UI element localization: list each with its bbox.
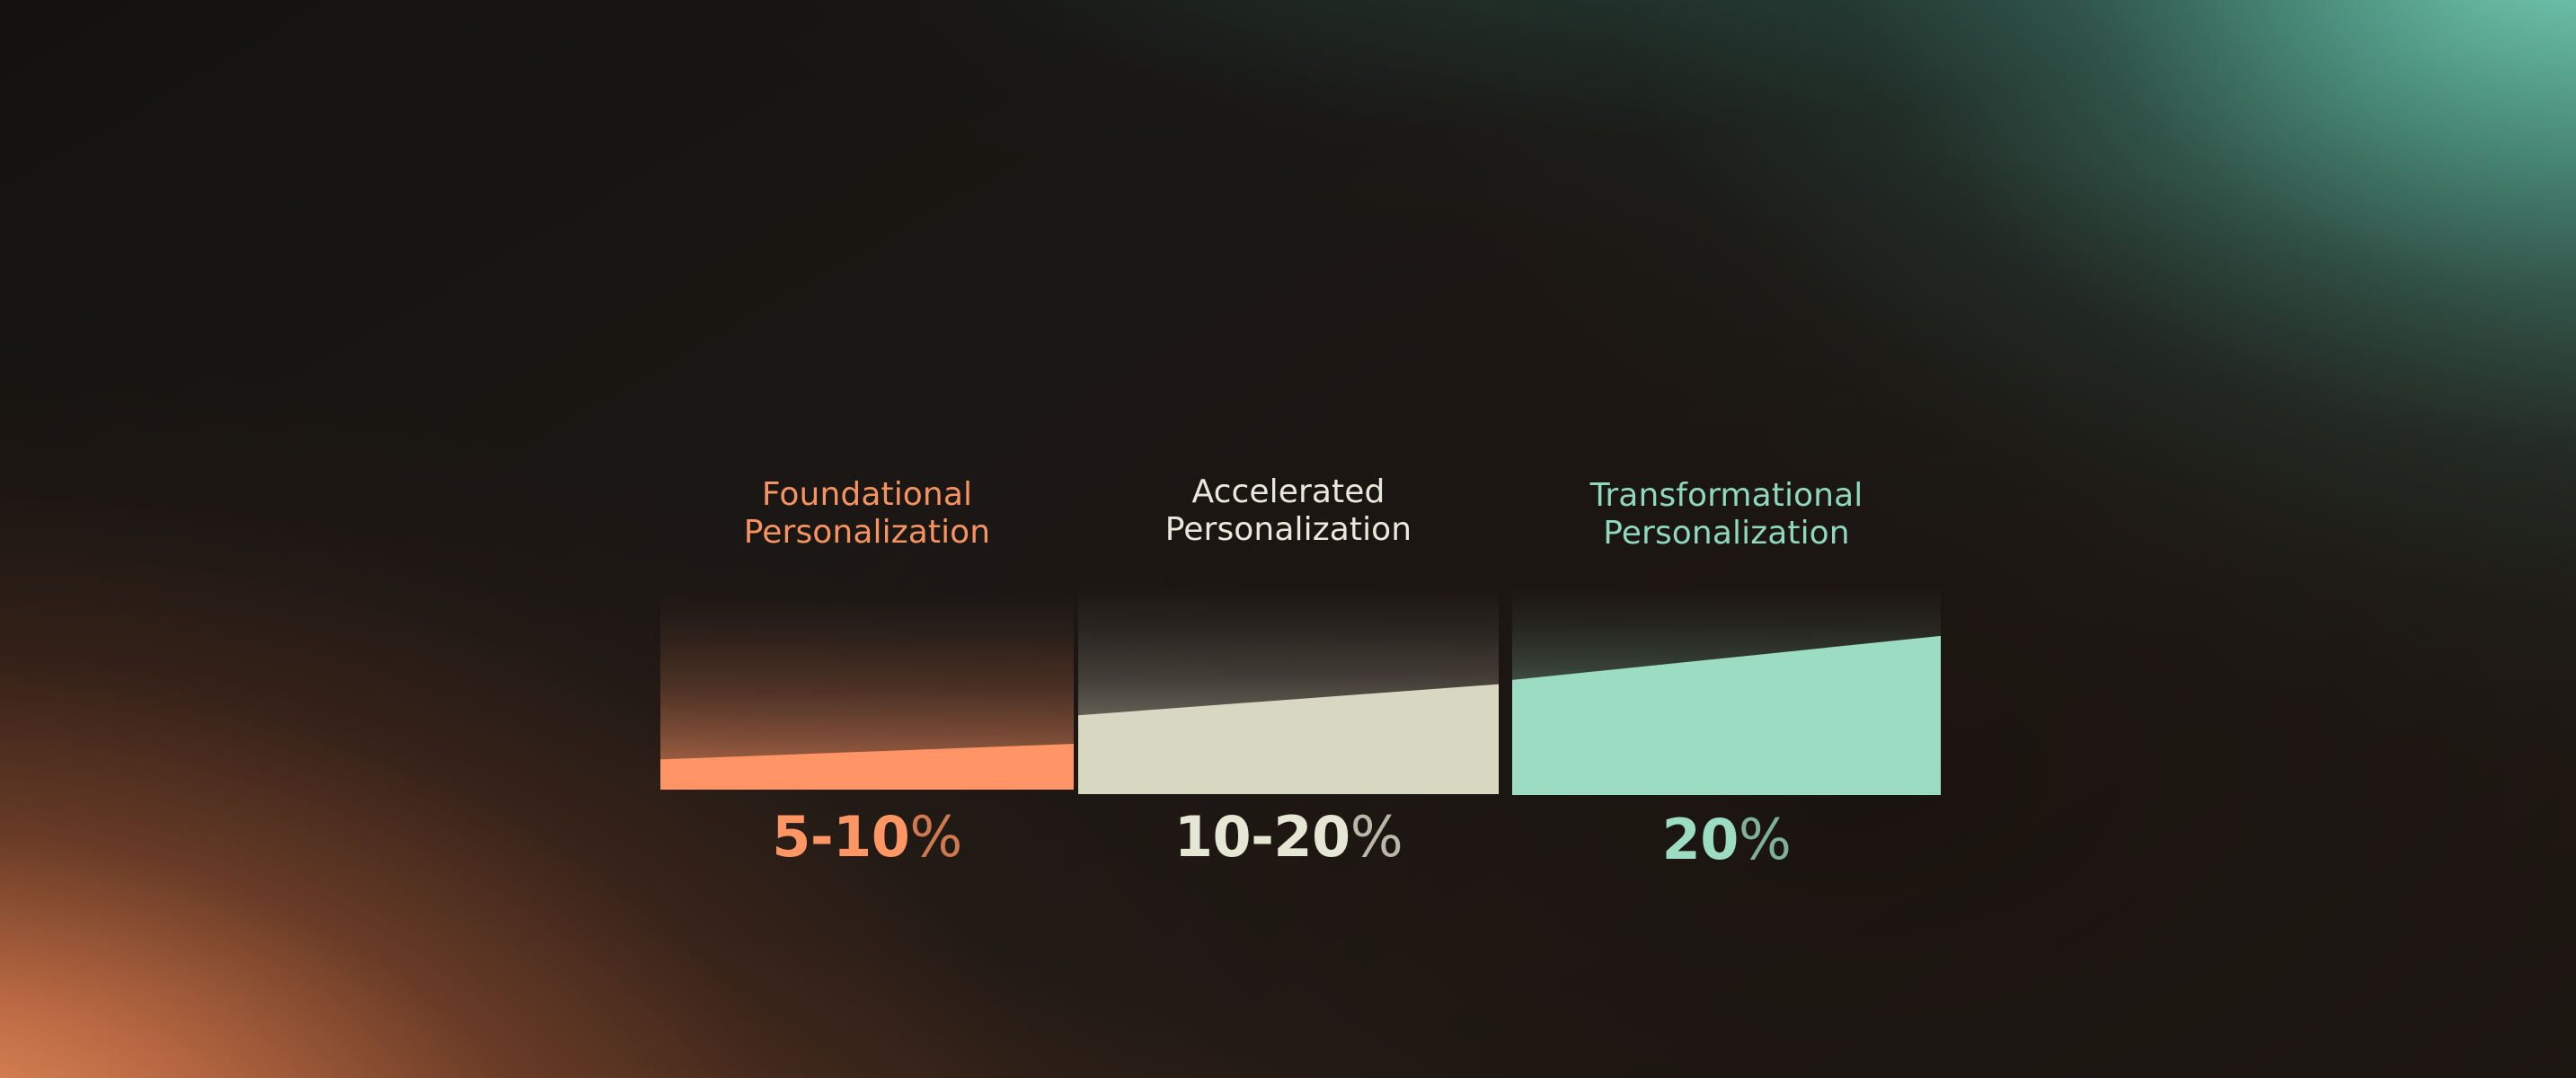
value-number-accelerated: 10-20 [1174, 804, 1350, 870]
column-title-accelerated: Accelerated Personalization [1078, 473, 1499, 549]
chart-column-accelerated: Accelerated Personalization 10-20% [1078, 485, 1499, 898]
value-percent-accelerated: % [1350, 804, 1403, 870]
slide-canvas: Foundational Personalization 5-10% Accel… [0, 0, 2576, 1078]
column-panel-foundational [660, 595, 1074, 790]
column-bar-foundational [660, 595, 1074, 790]
column-panel-transformational [1512, 586, 1941, 795]
chart-column-foundational: Foundational Personalization 5-10% [660, 485, 1074, 898]
column-panel-accelerated [1078, 587, 1499, 794]
value-number-foundational: 5-10 [772, 804, 909, 870]
column-value-foundational: 5-10% [660, 804, 1074, 870]
personalization-maturity-chart: Foundational Personalization 5-10% Accel… [660, 485, 1941, 898]
column-value-accelerated: 10-20% [1078, 804, 1499, 870]
value-percent-transformational: % [1739, 807, 1791, 872]
column-title-foundational: Foundational Personalization [660, 476, 1074, 552]
column-bar-transformational [1512, 586, 1941, 795]
column-bar-accelerated [1078, 587, 1499, 794]
column-title-transformational: Transformational Personalization [1512, 477, 1941, 552]
value-percent-foundational: % [909, 804, 961, 870]
value-number-transformational: 20 [1662, 807, 1739, 872]
chart-column-transformational: Transformational Personalization 20% [1512, 485, 1941, 898]
column-value-transformational: 20% [1512, 807, 1941, 872]
